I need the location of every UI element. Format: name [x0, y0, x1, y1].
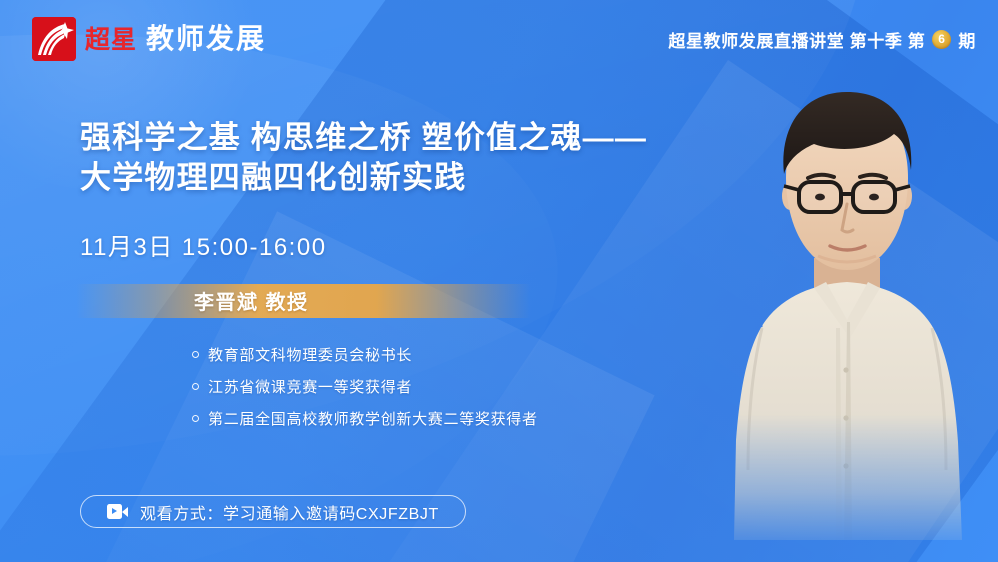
credential-text: 教育部文科物理委员会秘书长 — [208, 344, 412, 365]
video-camera-icon — [107, 504, 128, 519]
bullet-circle-icon — [192, 383, 199, 390]
chaoxing-star-logo-icon — [32, 17, 76, 61]
title-line-1: 强科学之基 构思维之桥 塑价值之魂—— — [80, 120, 647, 155]
list-item: 江苏省微课竞赛一等奖获得者 — [192, 376, 760, 397]
speaker-name-bar: 李晋斌 教授 — [76, 284, 531, 318]
brand-lockup: 超星 教师发展 — [32, 17, 266, 61]
series-suffix: 期 — [958, 27, 976, 52]
list-item: 第二届全国高校教师教学创新大赛二等奖获得者 — [192, 408, 760, 429]
brand-name-chinese: 超星 — [85, 27, 137, 52]
poster-header: 超星 教师发展 超星教师发展直播讲堂 第十季 第 6 期 — [0, 0, 998, 78]
series-prefix: 超星教师发展直播讲堂 第十季 第 — [668, 27, 925, 52]
viewing-instructions-pill: 观看方式：学习通输入邀请码CXJFZBJT — [80, 495, 466, 528]
series-label: 超星教师发展直播讲堂 第十季 第 6 期 — [668, 27, 976, 52]
list-item: 教育部文科物理委员会秘书长 — [192, 344, 760, 365]
brand-name-subtitle: 教师发展 — [146, 25, 266, 53]
viewing-instructions-text: 观看方式：学习通输入邀请码CXJFZBJT — [140, 500, 439, 524]
session-datetime: 11月3日 15:00-16:00 — [80, 227, 760, 262]
speaker-name: 李晋斌 教授 — [76, 286, 309, 315]
bullet-circle-icon — [192, 415, 199, 422]
bullet-circle-icon — [192, 351, 199, 358]
issue-number-badge: 6 — [932, 30, 951, 49]
credential-text: 江苏省微课竞赛一等奖获得者 — [208, 376, 412, 397]
title-line-2: 大学物理四融四化创新实践 — [80, 158, 760, 198]
webinar-poster: 超星 教师发展 超星教师发展直播讲堂 第十季 第 6 期 强科学之基 构思维之桥… — [0, 0, 998, 562]
credential-text: 第二届全国高校教师教学创新大赛二等奖获得者 — [208, 408, 538, 429]
poster-main-content: 强科学之基 构思维之桥 塑价值之魂—— 大学物理四融四化创新实践 11月3日 1… — [80, 118, 760, 440]
page-title: 强科学之基 构思维之桥 塑价值之魂—— 大学物理四融四化创新实践 — [80, 118, 760, 199]
speaker-credentials-list: 教育部文科物理委员会秘书长 江苏省微课竞赛一等奖获得者 第二届全国高校教师教学创… — [192, 344, 760, 429]
